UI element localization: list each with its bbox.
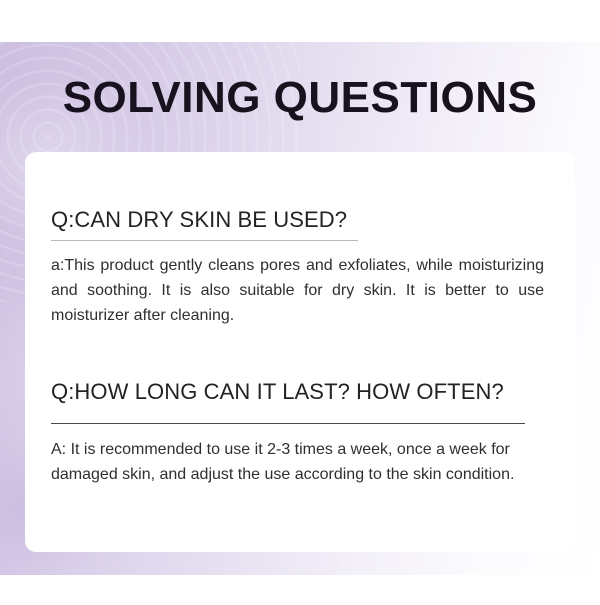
faq-divider-2	[51, 423, 525, 424]
faq-question-1: Q:CAN DRY SKIN BE USED?	[51, 206, 347, 234]
faq-answer-2: A: It is recommended to use it 2-3 times…	[51, 437, 521, 487]
page-title: SOLVING QUESTIONS	[0, 74, 600, 122]
faq-question-2: Q:HOW LONG CAN IT LAST? HOW OFTEN?	[51, 378, 504, 406]
faq-card: Q:CAN DRY SKIN BE USED? a:This product g…	[25, 152, 575, 552]
faq-divider-1	[51, 240, 358, 241]
faq-poster: SOLVING QUESTIONS Q:CAN DRY SKIN BE USED…	[0, 0, 600, 600]
faq-answer-1: a:This product gently cleans pores and e…	[51, 253, 544, 328]
